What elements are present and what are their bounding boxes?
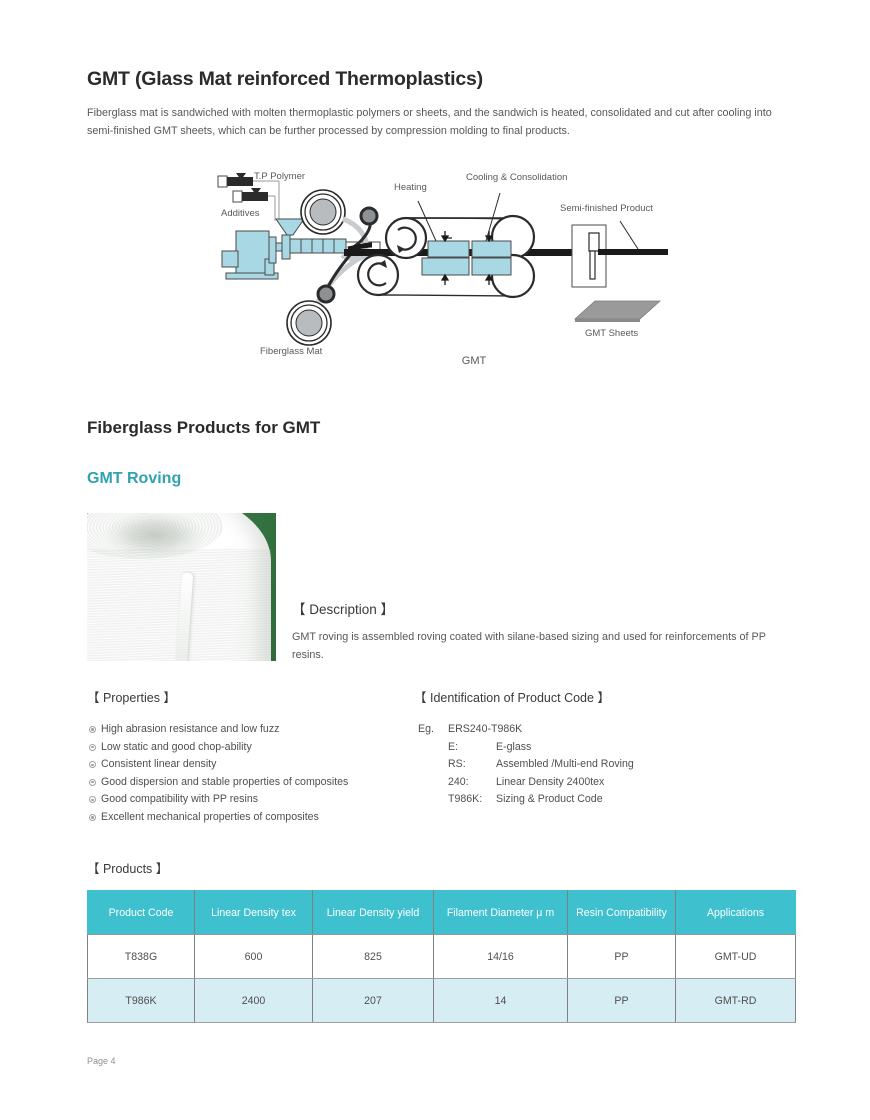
cell-filament-diameter: 14/16 — [434, 935, 568, 979]
spacer — [418, 774, 448, 792]
circle-bullet-icon — [89, 779, 96, 786]
intro-paragraph: Fiberglass mat is sandwiched with molten… — [87, 104, 795, 140]
identification-example-row: Eg. ERS240-T986K — [418, 721, 634, 739]
cell-linear-density-yield: 825 — [313, 935, 434, 979]
column-header-applications: Applications — [676, 891, 796, 935]
property-label: Good dispersion and stable properties of… — [101, 776, 348, 788]
table-row: T986K 2400 207 14 PP GMT-RD — [88, 979, 796, 1023]
cell-applications: GMT-UD — [676, 935, 796, 979]
semi-finished-leader — [620, 221, 638, 249]
property-label: Low static and good chop-ability — [101, 741, 252, 753]
cell-product-code: T838G — [88, 935, 195, 979]
identification-row: 240: Linear Density 2400tex — [418, 774, 634, 792]
spacer — [418, 739, 448, 757]
circle-bullet-icon — [89, 726, 96, 733]
roller-lower-left — [358, 255, 398, 295]
section-heading-gmt-roving: GMT Roving — [87, 470, 181, 488]
identification-heading: 【 Identification of Product Code 】 — [414, 687, 610, 706]
circle-bullet-icon — [89, 761, 96, 768]
heating-platen-top — [428, 241, 469, 257]
list-item: Excellent mechanical properties of compo… — [89, 809, 419, 827]
label-semi-finished: Semi-finished Product — [560, 203, 653, 214]
diagram-caption: GMT — [200, 355, 714, 367]
page-title: GMT (Glass Mat reinforced Thermoplastics… — [87, 68, 483, 91]
cell-linear-density-tex: 600 — [195, 935, 313, 979]
code-key: T986K: — [448, 791, 496, 809]
list-item: Consistent linear density — [89, 756, 419, 774]
cooling-platen-top — [472, 241, 511, 257]
identification-row: T986K: Sizing & Product Code — [418, 791, 634, 809]
page-number: Page 4 — [87, 1056, 116, 1066]
column-header-product-code: Product Code — [88, 891, 195, 935]
code-value: Assembled /Multi-end Roving — [496, 756, 634, 774]
identification-block: Eg. ERS240-T986K E: E-glass RS: Assemble… — [418, 721, 634, 809]
code-key: E: — [448, 739, 496, 757]
cell-resin-compatibility: PP — [568, 935, 676, 979]
column-header-linear-density-tex: Linear Density tex — [195, 891, 313, 935]
cell-linear-density-yield: 207 — [313, 979, 434, 1023]
circle-bullet-icon — [89, 814, 96, 821]
circle-bullet-icon — [89, 796, 96, 803]
cell-linear-density-tex: 2400 — [195, 979, 313, 1023]
column-header-filament-diameter: Filament Diameter μ m — [434, 891, 568, 935]
list-item: Good dispersion and stable properties of… — [89, 774, 419, 792]
mat-roll-lower — [287, 301, 331, 345]
products-table: Product Code Linear Density tex Linear D… — [87, 890, 796, 1023]
column-header-resin-compatibility: Resin Compatibility — [568, 891, 676, 935]
cell-filament-diameter: 14 — [434, 979, 568, 1023]
cell-resin-compatibility: PP — [568, 979, 676, 1023]
code-value: Sizing & Product Code — [496, 791, 603, 809]
gmt-sheet-stack — [575, 301, 660, 322]
code-value: Linear Density 2400tex — [496, 774, 604, 792]
roller-upper-left — [386, 218, 426, 258]
code-value: E-glass — [496, 739, 531, 757]
property-label: Excellent mechanical properties of compo… — [101, 811, 319, 823]
table-row: T838G 600 825 14/16 PP GMT-UD — [88, 935, 796, 979]
label-additives: Additives — [221, 208, 260, 219]
output-sheet — [598, 249, 668, 255]
mat-roll-upper — [301, 190, 345, 234]
heating-platen-bottom — [422, 258, 469, 275]
spacer — [418, 791, 448, 809]
table-header-row: Product Code Linear Density tex Linear D… — [88, 891, 796, 935]
description-heading: 【 Description 】 — [292, 598, 394, 618]
property-label: High abrasion resistance and low fuzz — [101, 723, 279, 735]
section-heading-products-for-gmt: Fiberglass Products for GMT — [87, 418, 320, 438]
label-cooling: Cooling & Consolidation — [466, 172, 567, 183]
gmt-roving-photo — [87, 513, 276, 661]
cell-applications: GMT-RD — [676, 979, 796, 1023]
circle-bullet-icon — [89, 744, 96, 751]
list-item: High abrasion resistance and low fuzz — [89, 721, 419, 739]
cell-product-code: T986K — [88, 979, 195, 1023]
column-header-linear-density-yield: Linear Density yield — [313, 891, 434, 935]
products-heading: 【 Products 】 — [87, 858, 168, 877]
identification-row: RS: Assembled /Multi-end Roving — [418, 756, 634, 774]
cutter-station — [572, 225, 606, 287]
list-item: Low static and good chop-ability — [89, 739, 419, 757]
properties-heading: 【 Properties 】 — [87, 687, 176, 706]
spacer — [418, 756, 448, 774]
eg-label: Eg. — [418, 721, 448, 739]
code-key: RS: — [448, 756, 496, 774]
description-text: GMT roving is assembled roving coated wi… — [292, 628, 797, 664]
properties-list: High abrasion resistance and low fuzz Lo… — [89, 721, 419, 827]
document-page: GMT (Glass Mat reinforced Thermoplastics… — [0, 0, 870, 1120]
property-label: Good compatibility with PP resins — [101, 793, 258, 805]
example-code: ERS240-T986K — [448, 721, 522, 739]
identification-row: E: E-glass — [418, 739, 634, 757]
cooling-platen-bottom — [472, 258, 511, 275]
gmt-process-diagram: T.P Polymer Additives Heating Cooling & … — [200, 163, 680, 378]
label-heating: Heating — [394, 182, 427, 193]
process-diagram-svg: T.P Polymer Additives Heating Cooling & … — [200, 163, 680, 358]
code-key: 240: — [448, 774, 496, 792]
label-gmt-sheets: GMT Sheets — [585, 328, 638, 339]
label-tp-polymer: T.P Polymer — [254, 171, 305, 182]
property-label: Consistent linear density — [101, 758, 216, 770]
list-item: Good compatibility with PP resins — [89, 791, 419, 809]
